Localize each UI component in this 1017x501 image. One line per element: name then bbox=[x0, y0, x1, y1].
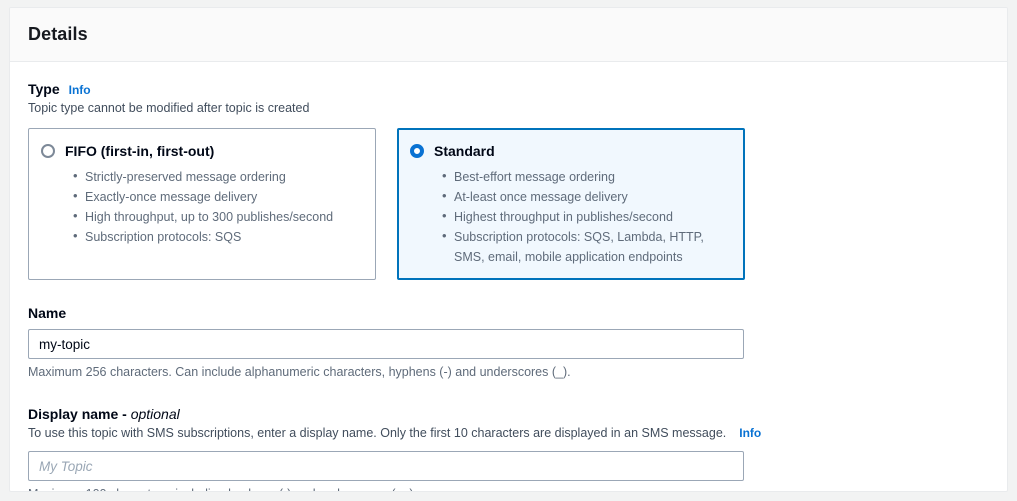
tile-fifo-bullets: Strictly-preserved message ordering Exac… bbox=[41, 167, 361, 247]
type-field-group: Type Info Topic type cannot be modified … bbox=[28, 80, 989, 280]
display-name-label: Display name - optional bbox=[28, 405, 989, 423]
tile-fifo-head: FIFO (first-in, first-out) bbox=[41, 142, 361, 160]
tile-fifo[interactable]: FIFO (first-in, first-out) Strictly-pres… bbox=[28, 128, 376, 280]
panel-header: Details bbox=[10, 8, 1007, 62]
radio-standard-icon[interactable] bbox=[410, 144, 424, 158]
list-item: Subscription protocols: SQS bbox=[73, 227, 361, 247]
type-label: Type bbox=[28, 80, 60, 98]
display-name-label-text: Display name - bbox=[28, 406, 131, 422]
topic-type-tiles: FIFO (first-in, first-out) Strictly-pres… bbox=[28, 128, 989, 280]
type-description: Topic type cannot be modified after topi… bbox=[28, 100, 989, 117]
name-field-group: Name Maximum 256 characters. Can include… bbox=[28, 304, 989, 381]
display-name-info-link[interactable]: Info bbox=[739, 426, 761, 440]
list-item: Strictly-preserved message ordering bbox=[73, 167, 361, 187]
tile-standard-head: Standard bbox=[410, 142, 730, 160]
list-item: Exactly-once message delivery bbox=[73, 187, 361, 207]
panel-body: Type Info Topic type cannot be modified … bbox=[10, 62, 1007, 492]
list-item: Highest throughput in publishes/second bbox=[442, 207, 730, 227]
display-name-description: To use this topic with SMS subscriptions… bbox=[28, 425, 726, 442]
tile-standard[interactable]: Standard Best-effort message ordering At… bbox=[397, 128, 745, 280]
display-name-input[interactable] bbox=[28, 451, 744, 481]
page-title: Details bbox=[28, 24, 88, 45]
details-panel: Details Type Info Topic type cannot be m… bbox=[9, 7, 1008, 492]
type-label-row: Type Info bbox=[28, 80, 989, 98]
radio-fifo-icon[interactable] bbox=[41, 144, 55, 158]
display-name-field-group: Display name - optional To use this topi… bbox=[28, 405, 989, 492]
tile-standard-bullets: Best-effort message ordering At-least on… bbox=[410, 167, 730, 267]
display-name-constraint-text: Maximum 100 characters, including hyphen… bbox=[28, 486, 989, 492]
list-item: Subscription protocols: SQS, Lambda, HTT… bbox=[442, 227, 730, 267]
display-name-optional-text: optional bbox=[131, 406, 180, 422]
topic-name-input[interactable] bbox=[28, 329, 744, 359]
list-item: High throughput, up to 300 publishes/sec… bbox=[73, 207, 361, 227]
display-name-description-row: To use this topic with SMS subscriptions… bbox=[28, 425, 989, 442]
tile-fifo-title: FIFO (first-in, first-out) bbox=[65, 142, 214, 160]
name-label: Name bbox=[28, 304, 989, 322]
list-item: At-least once message delivery bbox=[442, 187, 730, 207]
type-info-link[interactable]: Info bbox=[69, 83, 91, 97]
list-item: Best-effort message ordering bbox=[442, 167, 730, 187]
tile-standard-title: Standard bbox=[434, 142, 495, 160]
name-constraint-text: Maximum 256 characters. Can include alph… bbox=[28, 364, 989, 381]
